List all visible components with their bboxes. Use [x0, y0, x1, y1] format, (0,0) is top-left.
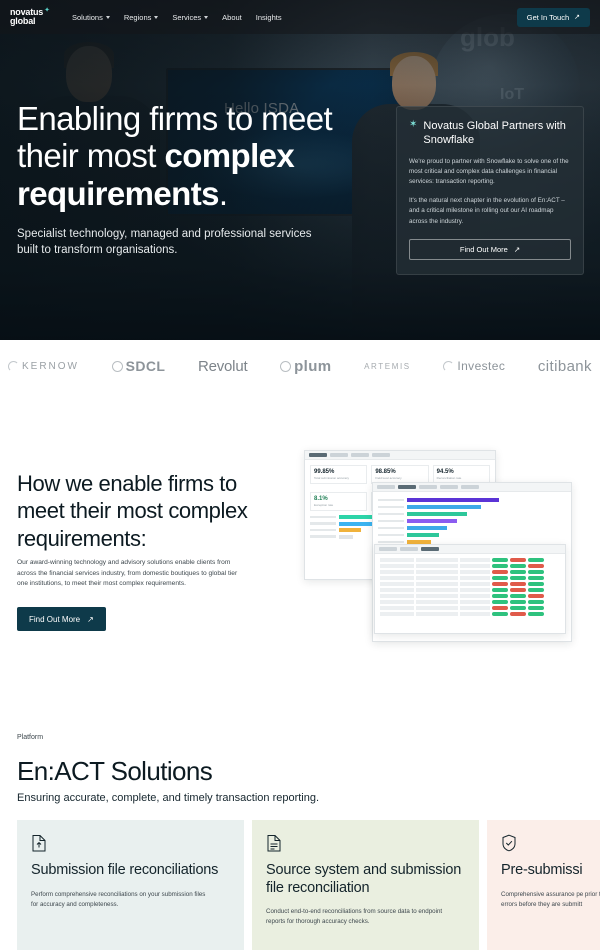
hero-card-paragraph-1: We're proud to partner with Snowflake to… — [409, 157, 571, 188]
client-logo-sdcl: SDCL — [112, 358, 166, 374]
nav-item-services[interactable]: Services — [172, 13, 208, 22]
client-logo-investec: Investec — [443, 359, 505, 373]
logo-line-2: global — [10, 17, 43, 26]
platform-card-title: Source system and submission file reconc… — [266, 862, 465, 897]
client-logo-plum: plum — [280, 358, 331, 375]
chevron-down-icon — [106, 16, 110, 19]
nav-item-regions[interactable]: Regions — [124, 13, 159, 22]
platform-card-body: Comprehensive assurance pe prior to subm… — [501, 890, 600, 910]
kpi-label: Field level accuracy — [375, 476, 424, 480]
nav-item-about[interactable]: About — [222, 13, 242, 22]
logo-asterisk-icon: ✦ — [44, 7, 50, 14]
hero-heading-line-1: Enabling firms to meet — [17, 100, 377, 137]
hero-heading-line-2: their most complex — [17, 137, 377, 174]
platform-card-submission-file-reconciliations[interactable]: Submission file reconciliations Perform … — [17, 820, 244, 950]
platform-subheading: Ensuring accurate, complete, and timely … — [17, 792, 319, 804]
sdcl-mark-icon — [112, 361, 123, 372]
hero-promo-card: ✶ Novatus Global Partners with Snowflake… — [396, 106, 584, 275]
arrow-up-right-icon: ↗ — [514, 245, 520, 254]
kpi-label: Total submission accuracy — [314, 476, 363, 480]
kpi-label: Exception rate — [314, 503, 363, 507]
nav-item-insights[interactable]: Insights — [256, 13, 282, 22]
hero-heading-light: their most — [17, 137, 164, 174]
plum-mark-icon — [280, 361, 291, 372]
kernow-mark-icon — [8, 361, 19, 372]
chevron-down-icon — [154, 16, 158, 19]
hero-subheading: Specialist technology, managed and profe… — [17, 226, 317, 259]
nav-label: Services — [172, 13, 201, 22]
button-label: Find Out More — [460, 245, 508, 254]
hero-heading-bold: complex — [164, 137, 294, 174]
platform-cards: Submission file reconciliations Perform … — [17, 820, 600, 950]
nav-label: Solutions — [72, 13, 103, 22]
arrow-up-right-icon: ↗ — [574, 13, 580, 21]
nav-label: About — [222, 13, 242, 22]
platform-card-body: Conduct end-to-end reconciliations from … — [266, 907, 446, 927]
kpi-value: 98.85% — [375, 469, 424, 475]
client-logo-label: SDCL — [126, 358, 166, 374]
kpi-label: Reconciliation rate — [437, 476, 486, 480]
chevron-down-icon — [204, 16, 208, 19]
client-logo-label: KERNOW — [22, 361, 79, 372]
logo[interactable]: novatus global ✦ — [10, 8, 50, 27]
platform-card-body: Perform comprehensive reconciliations on… — [31, 890, 211, 910]
hero-card-title-row: ✶ Novatus Global Partners with Snowflake — [409, 119, 571, 148]
platform-card-title: Submission file reconciliations — [31, 862, 230, 880]
kpi-value: 99.85% — [314, 469, 363, 475]
nav-label: Insights — [256, 13, 282, 22]
client-logo-label: citibank — [538, 358, 592, 375]
shield-check-icon — [501, 834, 517, 852]
main-nav: Solutions Regions Services About Insight… — [72, 13, 282, 22]
hero-heading-period: . — [219, 175, 228, 212]
how-we-enable-section: How we enable firms to meet their most c… — [0, 392, 600, 712]
site-header: novatus global ✦ Solutions Regions Servi… — [0, 0, 600, 34]
section-enable-paragraph: Our award-winning technology and advisor… — [17, 558, 249, 590]
platform-section: Platform En:ACT Solutions Ensuring accur… — [0, 712, 600, 950]
cta-label: Get In Touch — [527, 13, 569, 22]
client-logo-artemis: ARTEMIS — [364, 362, 411, 371]
hero-content: Enabling firms to meet their most comple… — [17, 100, 377, 259]
document-upload-icon — [31, 834, 47, 852]
client-logo-kernow: KERNOW — [8, 361, 79, 372]
platform-card-pre-submission[interactable]: Pre-submissi Comprehensive assurance pe … — [487, 820, 600, 950]
client-logo-label: Revolut — [198, 358, 247, 375]
arrow-up-right-icon: ↗ — [87, 615, 94, 624]
hero-card-title: Novatus Global Partners with Snowflake — [423, 119, 571, 148]
nav-item-solutions[interactable]: Solutions — [72, 13, 110, 22]
dashboard-mockup: 99.85%Total submission accuracy 98.85%Fi… — [300, 450, 580, 665]
button-label: Find Out More — [29, 615, 80, 624]
document-lines-icon — [266, 834, 282, 852]
section-enable-find-out-more-button[interactable]: Find Out More ↗ — [17, 607, 106, 631]
hero-card-find-out-more-button[interactable]: Find Out More ↗ — [409, 239, 571, 260]
page-root: glob IoT Hello ISDA novatus global ✦ Sol… — [0, 0, 600, 950]
asterisk-icon: ✶ — [409, 119, 417, 148]
hero-card-paragraph-2: It's the natural next chapter in the evo… — [409, 196, 571, 227]
kpi-value: 94.5% — [437, 469, 486, 475]
client-logo-label: ARTEMIS — [364, 362, 411, 371]
hero-heading: Enabling firms to meet their most comple… — [17, 100, 377, 212]
nav-label: Regions — [124, 13, 152, 22]
client-logo-label: plum — [294, 358, 331, 375]
platform-heading: En:ACT Solutions — [17, 756, 212, 787]
hero-heading-bold-2: requirements — [17, 175, 219, 212]
client-logo-label: Investec — [457, 359, 505, 373]
client-logo-citibank: citibank — [538, 358, 592, 375]
platform-card-title: Pre-submissi — [501, 862, 600, 880]
investec-mark-icon — [443, 361, 454, 372]
client-logo-strip: KERNOW SDCL Revolut plum ARTEMIS Investe… — [0, 340, 600, 392]
platform-card-source-system-reconciliation[interactable]: Source system and submission file reconc… — [252, 820, 479, 950]
hero-heading-line-3: requirements. — [17, 175, 377, 212]
get-in-touch-button[interactable]: Get In Touch ↗ — [517, 8, 590, 27]
section-enable-heading: How we enable firms to meet their most c… — [17, 470, 277, 552]
dashboard-table-rows — [375, 554, 565, 620]
dashboard-card-table — [374, 544, 566, 634]
client-logo-revolut: Revolut — [198, 358, 247, 375]
kpi-value: 8.1% — [314, 496, 363, 502]
platform-eyebrow: Platform — [17, 734, 43, 741]
